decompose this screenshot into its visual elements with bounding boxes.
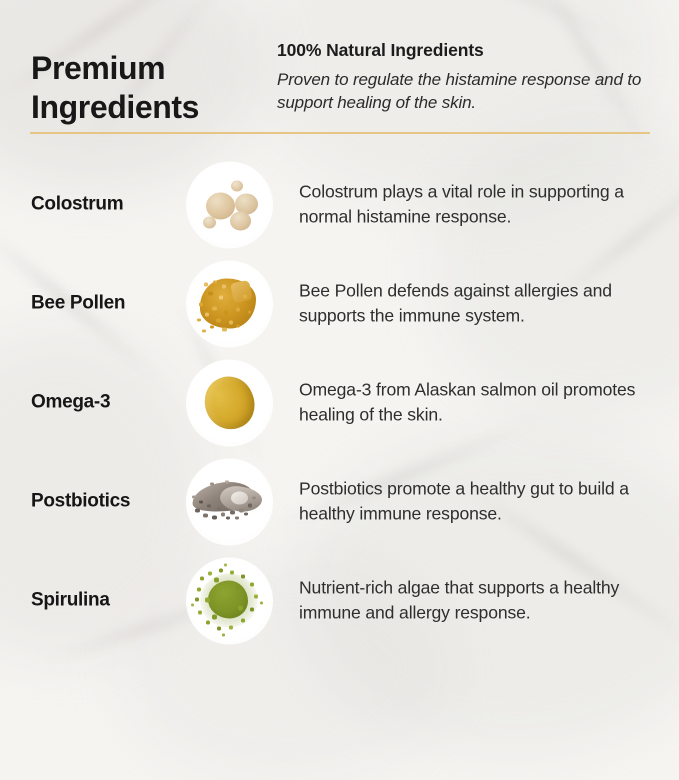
icon-artwork (186, 359, 273, 446)
ingredient-name: Postbiotics (31, 490, 181, 513)
ingredient-name: Colostrum (31, 193, 181, 216)
icon-artwork (186, 557, 273, 644)
ingredients-infographic: Premium Ingredients 100% Natural Ingredi… (0, 0, 679, 679)
icon-artwork (186, 161, 273, 248)
ingredient-name: Bee Pollen (31, 292, 181, 315)
header-divider (30, 132, 650, 134)
ingredient-row-spirulina: Spirulina (0, 551, 679, 650)
spirulina-powder-icon (186, 557, 273, 644)
ingredient-list: Colostrum Colostrum plays a vital role i… (0, 155, 679, 650)
ingredient-description: Omega-3 from Alaskan salmon oil promotes… (299, 377, 661, 428)
ingredient-description: Colostrum plays a vital role in supporti… (299, 179, 661, 230)
header: Premium Ingredients 100% Natural Ingredi… (0, 0, 679, 140)
postbiotics-powder-icon (186, 458, 273, 545)
ingredient-description: Postbiotics promote a healthy gut to bui… (299, 476, 661, 527)
header-claim-block: 100% Natural Ingredients Proven to regul… (277, 40, 667, 115)
ingredient-name: Omega-3 (31, 391, 181, 414)
ingredient-row-omega-3: Omega-3 Omega-3 from Alaskan salmon oil … (0, 353, 679, 452)
natural-ingredients-subtext: Proven to regulate the histamine respons… (277, 68, 667, 115)
ingredient-description: Bee Pollen defends against allergies and… (299, 278, 661, 329)
ingredient-row-colostrum: Colostrum Colostrum plays a vital role i… (0, 155, 679, 254)
bee-pollen-granules-icon (186, 260, 273, 347)
colostrum-droplets-icon (186, 161, 273, 248)
ingredient-name: Spirulina (31, 589, 181, 612)
icon-artwork (186, 260, 273, 347)
natural-ingredients-heading: 100% Natural Ingredients (277, 40, 667, 61)
omega-3-softgel-icon (186, 359, 273, 446)
ingredient-row-bee-pollen: Bee Pollen (0, 254, 679, 353)
ingredient-description: Nutrient-rich algae that supports a heal… (299, 575, 661, 626)
icon-artwork (186, 458, 273, 545)
page-title: Premium Ingredients (31, 49, 271, 127)
ingredient-row-postbiotics: Postbiotics (0, 452, 679, 551)
